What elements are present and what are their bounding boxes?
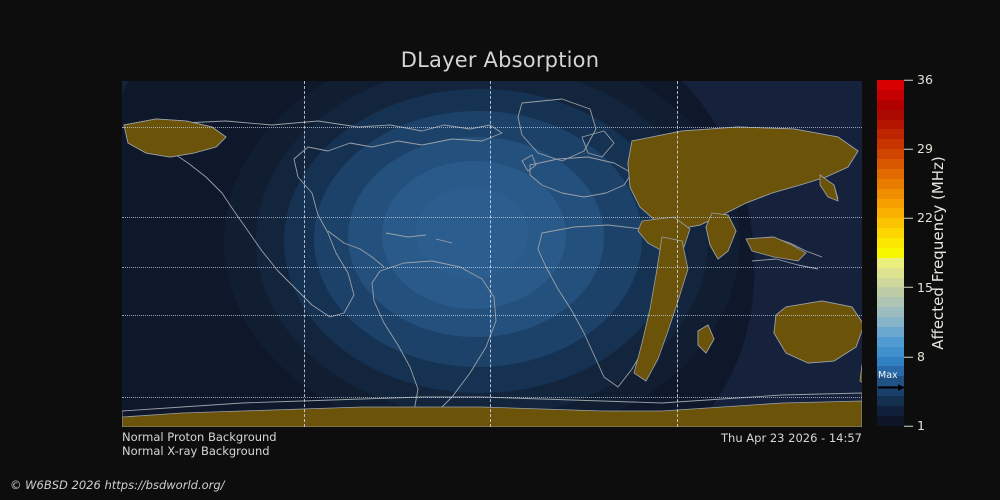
colorbar-segment (877, 189, 904, 199)
colorbar-segment (877, 159, 904, 169)
colorbar-tick-dash (904, 426, 913, 427)
colorbar-segment (877, 80, 904, 90)
colorbar-segment (877, 248, 904, 258)
colorbar-tick-dash (904, 80, 913, 81)
colorbar-segment (877, 357, 904, 367)
colorbar-tick: 1 (904, 420, 925, 433)
colorbar-segment (877, 169, 904, 179)
world-map[interactable] (122, 81, 862, 427)
copyright-notice: © W6BSD 2026 https://bsdworld.org/ (10, 478, 225, 492)
colorbar-segment (877, 278, 904, 288)
colorbar-segment (877, 396, 904, 406)
colorbar-tick-dash (904, 356, 913, 357)
colorbar-segment (877, 110, 904, 120)
colorbar-segment (877, 179, 904, 189)
colorbar-segment (877, 317, 904, 327)
colorbar-tick-dash (904, 149, 913, 150)
colorbar-tick-label: 1 (917, 420, 925, 433)
max-arrow-icon (878, 384, 906, 391)
colorbar-segment (877, 268, 904, 278)
colorbar-axis-label: Affected Frequency (MHz) (925, 80, 951, 426)
colorbar-segment (877, 347, 904, 357)
colorbar-segment (877, 90, 904, 100)
colorbar-tick: 8 (904, 351, 925, 364)
map-canvas (122, 81, 862, 427)
colorbar-segment (877, 238, 904, 248)
colorbar-segment (877, 199, 904, 209)
colorbar-segment (877, 100, 904, 110)
proton-status: Normal Proton Background (122, 430, 277, 444)
colorbar-segment (877, 218, 904, 228)
dlayer-absorption-chart: DLayer Absorption (0, 0, 1000, 500)
timestamp: Thu Apr 23 2026 - 14:57 (721, 431, 862, 445)
colorbar-segment (877, 337, 904, 347)
colorbar-segment (877, 120, 904, 130)
max-marker-label: Max (878, 371, 898, 381)
colorbar-axis-label-text: Affected Frequency (MHz) (929, 156, 947, 350)
colorbar-tick-dash (904, 287, 913, 288)
colorbar-max-marker: Max (877, 371, 907, 393)
colorbar-segment (877, 327, 904, 337)
colorbar-segment (877, 258, 904, 268)
colorbar-segment (877, 416, 904, 426)
colorbar-segment (877, 297, 904, 307)
colorbar-segment (877, 406, 904, 416)
colorbar-segment (877, 139, 904, 149)
page-title: DLayer Absorption (0, 48, 1000, 72)
colorbar-segment (877, 129, 904, 139)
xray-status: Normal X-ray Background (122, 444, 270, 458)
colorbar-segment (877, 208, 904, 218)
colorbar-segment (877, 149, 904, 159)
colorbar-segment (877, 228, 904, 238)
colorbar-segment (877, 307, 904, 317)
colorbar-segment (877, 287, 904, 297)
colorbar-tick-label: 8 (917, 351, 925, 364)
colorbar-tick-dash (904, 218, 913, 219)
